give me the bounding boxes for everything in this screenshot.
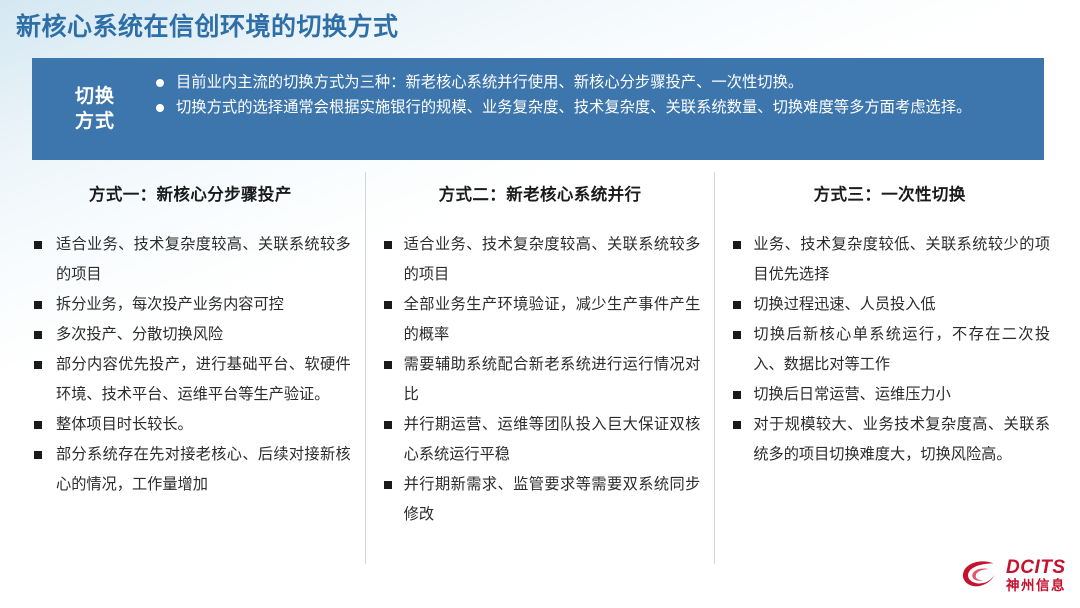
bullet-square-icon	[34, 451, 42, 459]
list-item: 切换后新核心单系统运行，不存在二次投入、数据比对等工作	[729, 320, 1050, 380]
list-item: 部分内容优先投产，进行基础平台、软硬件环境、技术平台、运维平台等生产验证。	[30, 350, 351, 410]
list-item: 业务、技术复杂度较低、关联系统较少的项目优先选择	[729, 230, 1050, 290]
callout-item: 切换方式的选择通常会根据实施银行的规模、业务复杂度、技术复杂度、关联系统数量、切…	[154, 95, 1030, 120]
list-item: 需要辅助系统配合新老系统进行运行情况对比	[380, 350, 701, 410]
list-item: 适合业务、技术复杂度较高、关联系统较多的项目	[380, 230, 701, 290]
column-title: 方式二：新老核心系统并行	[380, 182, 701, 208]
list-item: 适合业务、技术复杂度较高、关联系统较多的项目	[30, 230, 351, 290]
list-item: 整体项目时长较长。	[30, 410, 351, 440]
list-item-text: 业务、技术复杂度较低、关联系统较少的项目优先选择	[753, 236, 1050, 283]
list-item: 并行期新需求、监管要求等需要双系统同步修改	[380, 470, 701, 530]
bullet-square-icon	[733, 331, 741, 339]
callout-label-line1: 切换	[75, 84, 115, 109]
column-method-two: 方式二：新老核心系统并行 适合业务、技术复杂度较高、关联系统较多的项目 全部业务…	[365, 172, 715, 564]
list-item: 多次投产、分散切换风险	[30, 320, 351, 350]
list-item: 切换后日常运营、运维压力小	[729, 380, 1050, 410]
list-item-text: 并行期新需求、监管要求等需要双系统同步修改	[404, 476, 701, 523]
bullet-square-icon	[733, 241, 741, 249]
bullet-list: 适合业务、技术复杂度较高、关联系统较多的项目 全部业务生产环境验证，减少生产事件…	[380, 230, 701, 530]
bullet-square-icon	[733, 421, 741, 429]
callout-body: 目前业内主流的切换方式为三种：新老核心系统并行使用、新核心分步骤投产、一次性切换…	[148, 58, 1044, 160]
bullet-square-icon	[733, 301, 741, 309]
list-item-text: 对于规模较大、业务技术复杂度高、关联系统多的项目切换难度大，切换风险高。	[753, 416, 1050, 463]
dcits-swirl-icon	[960, 558, 1000, 592]
bullet-list: 业务、技术复杂度较低、关联系统较少的项目优先选择 切换过程迅速、人员投入低 切换…	[729, 230, 1050, 470]
page-title: 新核心系统在信创环境的切换方式	[16, 10, 399, 44]
list-item-text: 部分系统存在先对接老核心、后续对接新核心的情况，工作量增加	[56, 446, 351, 493]
list-item-text: 适合业务、技术复杂度较高、关联系统较多的项目	[404, 236, 701, 283]
list-item-text: 切换过程迅速、人员投入低	[753, 296, 935, 313]
bullet-dot-icon	[156, 79, 164, 87]
bullet-square-icon	[384, 481, 392, 489]
column-method-one: 方式一：新核心分步骤投产 适合业务、技术复杂度较高、关联系统较多的项目 拆分业务…	[16, 172, 365, 564]
column-method-three: 方式三：一次性切换 业务、技术复杂度较低、关联系统较少的项目优先选择 切换过程迅…	[714, 172, 1064, 564]
callout-item: 目前业内主流的切换方式为三种：新老核心系统并行使用、新核心分步骤投产、一次性切换…	[154, 70, 1030, 95]
bullet-list: 适合业务、技术复杂度较高、关联系统较多的项目 拆分业务，每次投产业务内容可控 多…	[30, 230, 351, 500]
column-title: 方式一：新核心分步骤投产	[30, 182, 351, 208]
bullet-square-icon	[384, 301, 392, 309]
logo-en-text: DCITS	[1006, 558, 1066, 577]
column-title: 方式三：一次性切换	[729, 182, 1050, 208]
callout-item-text: 目前业内主流的切换方式为三种：新老核心系统并行使用、新核心分步骤投产、一次性切换…	[176, 74, 803, 91]
bullet-square-icon	[384, 361, 392, 369]
list-item-text: 拆分业务，每次投产业务内容可控	[56, 296, 284, 313]
list-item-text: 需要辅助系统配合新老系统进行运行情况对比	[404, 356, 701, 403]
bullet-square-icon	[34, 361, 42, 369]
callout-label: 切换 方式	[32, 58, 148, 160]
list-item-text: 适合业务、技术复杂度较高、关联系统较多的项目	[56, 236, 351, 283]
list-item: 切换过程迅速、人员投入低	[729, 290, 1050, 320]
company-logo: DCITS 神州信息	[960, 556, 1066, 594]
list-item: 部分系统存在先对接老核心、后续对接新核心的情况，工作量增加	[30, 440, 351, 500]
bullet-square-icon	[733, 391, 741, 399]
list-item-text: 切换后新核心单系统运行，不存在二次投入、数据比对等工作	[753, 326, 1050, 373]
list-item-text: 并行期运营、运维等团队投入巨大保证双核心系统运行平稳	[404, 416, 701, 463]
bullet-square-icon	[384, 421, 392, 429]
bullet-square-icon	[34, 301, 42, 309]
list-item: 全部业务生产环境验证，减少生产事件产生的概率	[380, 290, 701, 350]
bullet-dot-icon	[156, 104, 164, 112]
callout-label-line2: 方式	[75, 109, 115, 134]
bullet-square-icon	[34, 241, 42, 249]
callout-box: 切换 方式 目前业内主流的切换方式为三种：新老核心系统并行使用、新核心分步骤投产…	[32, 58, 1044, 160]
list-item-text: 全部业务生产环境验证，减少生产事件产生的概率	[404, 296, 701, 343]
list-item-text: 多次投产、分散切换风险	[56, 326, 223, 343]
bullet-square-icon	[384, 241, 392, 249]
list-item-text: 切换后日常运营、运维压力小	[753, 386, 950, 403]
list-item: 并行期运营、运维等团队投入巨大保证双核心系统运行平稳	[380, 410, 701, 470]
list-item-text: 整体项目时长较长。	[56, 416, 193, 433]
list-item-text: 部分内容优先投产，进行基础平台、软硬件环境、技术平台、运维平台等生产验证。	[56, 356, 351, 403]
logo-text: DCITS 神州信息	[1006, 558, 1066, 593]
comparison-columns: 方式一：新核心分步骤投产 适合业务、技术复杂度较高、关联系统较多的项目 拆分业务…	[16, 172, 1064, 564]
bullet-square-icon	[34, 331, 42, 339]
callout-item-text: 切换方式的选择通常会根据实施银行的规模、业务复杂度、技术复杂度、关联系统数量、切…	[176, 99, 971, 116]
slide-root: 新核心系统在信创环境的切换方式 切换 方式 目前业内主流的切换方式为三种：新老核…	[0, 0, 1080, 608]
list-item: 对于规模较大、业务技术复杂度高、关联系统多的项目切换难度大，切换风险高。	[729, 410, 1050, 470]
list-item: 拆分业务，每次投产业务内容可控	[30, 290, 351, 320]
bullet-square-icon	[34, 421, 42, 429]
logo-cn-text: 神州信息	[1006, 579, 1066, 593]
